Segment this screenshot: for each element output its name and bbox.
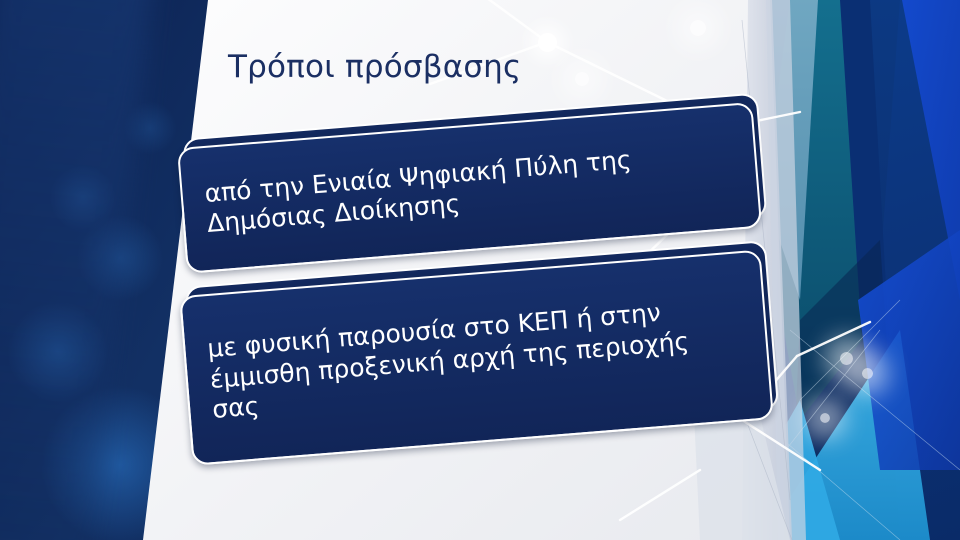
page-title: Τρόποι πρόσβασης xyxy=(228,50,521,86)
content-box-1-text: από την Ενιαία Ψηφιακή Πύλη της Δημόσιας… xyxy=(182,134,758,241)
content-box-2-text: με φυσική παρουσία στο ΚΕΠ ή στην έμμισθ… xyxy=(184,288,769,428)
presentation-slide: Τρόποι πρόσβασης από την Ενιαία Ψηφιακή … xyxy=(0,0,960,540)
